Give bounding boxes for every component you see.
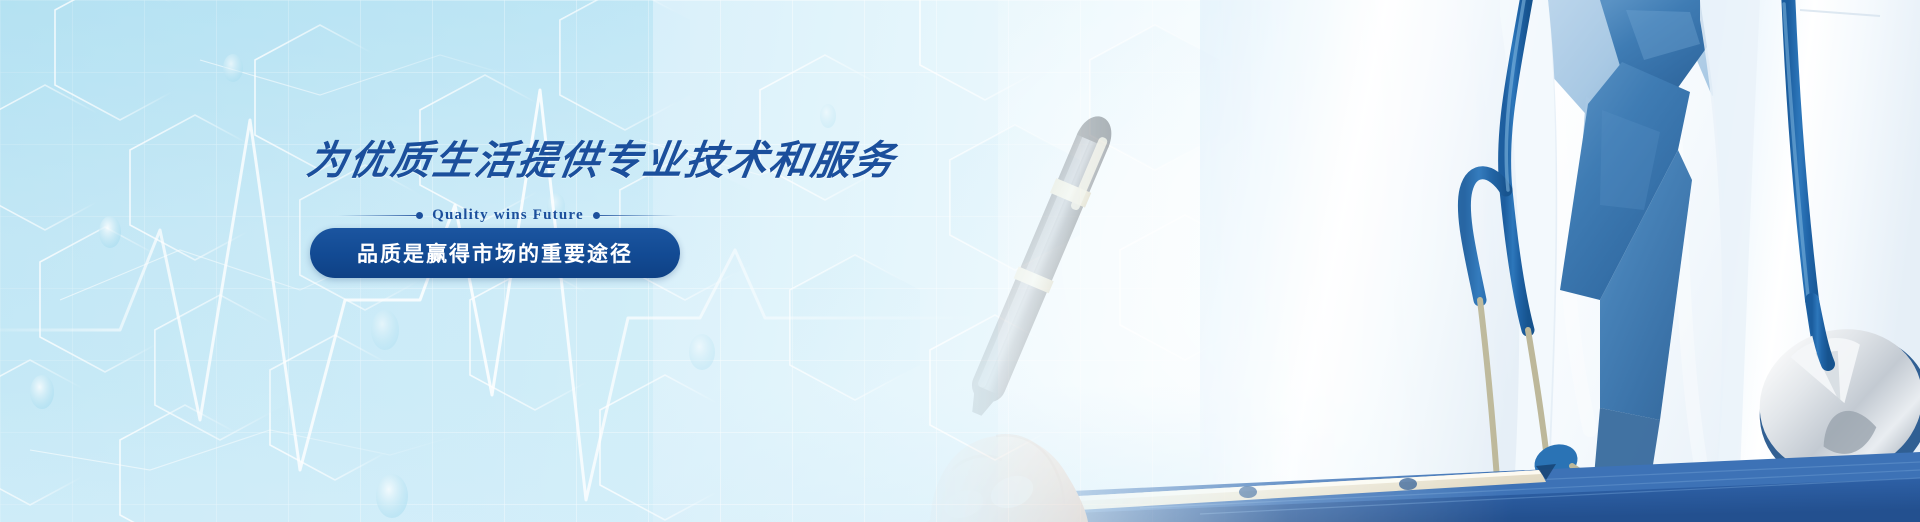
subtitle-rule-left bbox=[338, 215, 416, 216]
subtitle-dot-right-icon bbox=[593, 212, 600, 219]
medical-banner: 为优质生活提供专业技术和服务 Quality wins Future 品质是赢得… bbox=[0, 0, 1920, 522]
banner-text-block: 为优质生活提供专业技术和服务 Quality wins Future 品质是赢得… bbox=[300, 0, 920, 522]
subtitle-english: Quality wins Future bbox=[423, 207, 593, 224]
tagline-pill[interactable]: 品质是赢得市场的重要途径 bbox=[310, 228, 680, 278]
subtitle-rule-right bbox=[600, 215, 678, 216]
page-title: 为优质生活提供专业技术和服务 bbox=[303, 128, 900, 186]
subtitle-dot-left-icon bbox=[416, 212, 423, 219]
tagline-label: 品质是赢得市场的重要途径 bbox=[357, 238, 633, 268]
doctor-photo bbox=[900, 0, 1920, 522]
subtitle-row: Quality wins Future bbox=[338, 203, 678, 227]
